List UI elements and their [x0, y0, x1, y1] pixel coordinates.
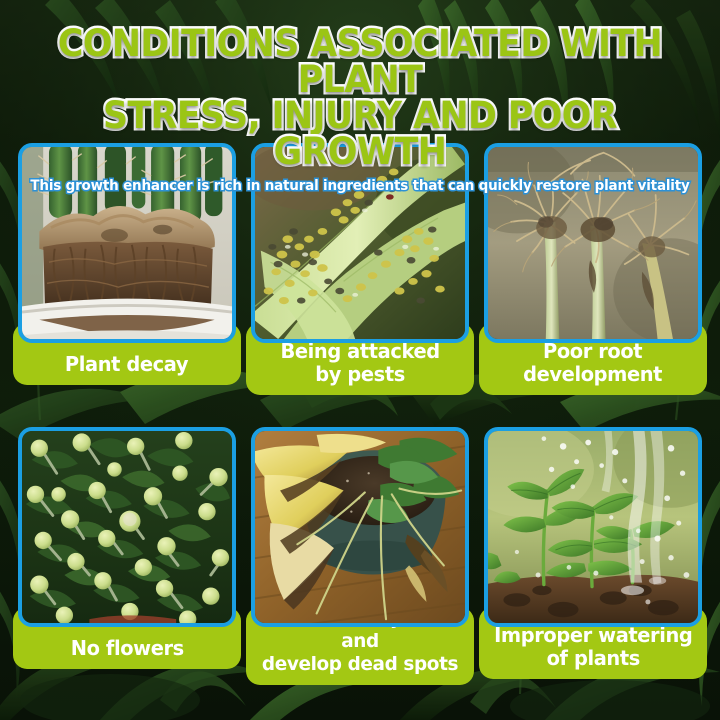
header: CONDITIONS ASSOCIATED WITH PLANT STRESS,…	[0, 0, 720, 140]
condition-card-improper-watering[interactable]: Improper watering of plants	[479, 425, 707, 707]
card-label-text: Being attacked by pests	[280, 340, 439, 386]
card-label-text: Improper watering of plants	[494, 624, 692, 670]
condition-card-grid: Plant decay	[13, 141, 707, 707]
card-photo-no-flowers	[18, 427, 236, 627]
condition-card-no-flowers[interactable]: No flowers	[13, 425, 241, 707]
card-photo-pests	[251, 143, 469, 343]
card-photo-plant-decay	[18, 143, 236, 343]
card-photo-yellow-leaves	[251, 427, 469, 627]
card-photo-improper-watering	[484, 427, 702, 627]
card-label-text: Plant decay	[65, 353, 188, 376]
card-label-text: No flowers	[70, 637, 183, 660]
card-label-text: Poor root development	[524, 340, 663, 386]
page-title: CONDITIONS ASSOCIATED WITH PLANT STRESS,…	[22, 0, 699, 170]
card-photo-poor-root	[484, 143, 702, 343]
condition-card-yellow-leaves[interactable]: Leaves turn yellow and develop dead spot…	[246, 425, 474, 707]
page-subtitle: This growth enhancer is rich in natural …	[25, 178, 695, 194]
